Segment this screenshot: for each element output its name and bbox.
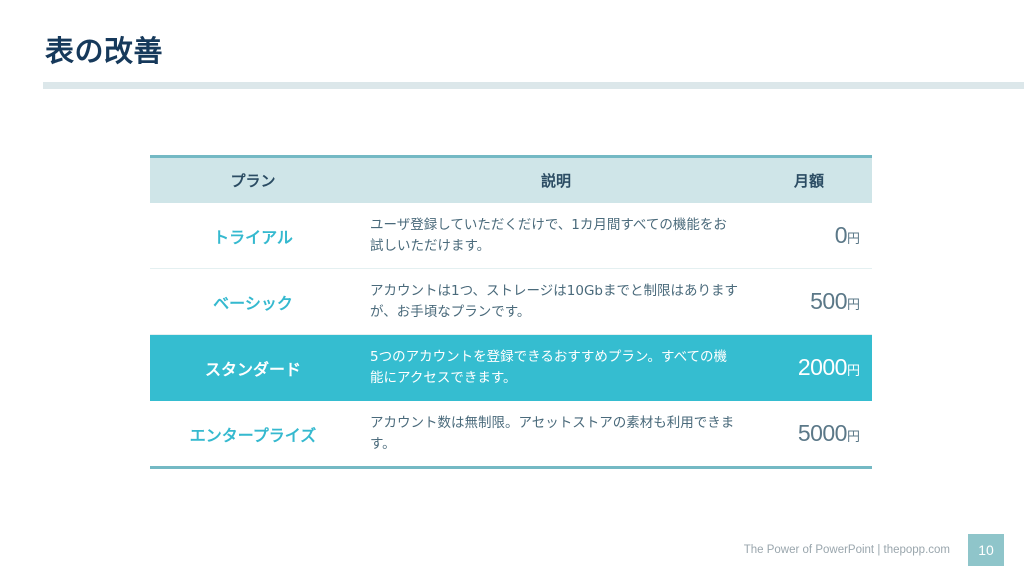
cell-price: 0円 — [756, 203, 872, 269]
table-header-row: プラン 説明 月額 — [150, 157, 872, 204]
price-unit: 円 — [847, 297, 860, 312]
price-unit: 円 — [847, 363, 860, 378]
price-amount: 5000 — [798, 420, 847, 446]
price-amount: 0 — [835, 222, 847, 248]
page-title: 表の改善 — [45, 28, 163, 70]
price-amount: 2000 — [798, 354, 847, 380]
price-amount: 500 — [810, 288, 847, 314]
cell-plan: ベーシック — [150, 269, 356, 335]
cell-description: アカウントは1つ、ストレージは10Gbまでと制限はありますが、お手頃なプランです… — [356, 269, 756, 335]
price-unit: 円 — [847, 429, 860, 444]
cell-plan: トライアル — [150, 203, 356, 269]
footer-credit: The Power of PowerPoint | thepopp.com — [744, 544, 950, 556]
cell-price: 5000円 — [756, 401, 872, 468]
page-number-badge: 10 — [968, 534, 1004, 566]
table-body: トライアル ユーザ登録していただくだけで、1カ月間すべての機能をお試しいただけま… — [150, 203, 872, 468]
cell-plan: スタンダード — [150, 335, 356, 401]
cell-price: 500円 — [756, 269, 872, 335]
column-header-description: 説明 — [356, 157, 756, 204]
table-row[interactable]: ベーシック アカウントは1つ、ストレージは10Gbまでと制限はありますが、お手頃… — [150, 269, 872, 335]
pricing-table: プラン 説明 月額 トライアル ユーザ登録していただくだけで、1カ月間すべての機… — [150, 155, 872, 469]
cell-plan: エンタープライズ — [150, 401, 356, 468]
price-unit: 円 — [847, 231, 860, 246]
table-row[interactable]: トライアル ユーザ登録していただくだけで、1カ月間すべての機能をお試しいただけま… — [150, 203, 872, 269]
column-header-price: 月額 — [756, 157, 872, 204]
cell-description: 5つのアカウントを登録できるおすすめプラン。すべての機能にアクセスできます。 — [356, 335, 756, 401]
cell-price: 2000円 — [756, 335, 872, 401]
table-row-highlighted[interactable]: スタンダード 5つのアカウントを登録できるおすすめプラン。すべての機能にアクセス… — [150, 335, 872, 401]
column-header-plan: プラン — [150, 157, 356, 204]
table-row[interactable]: エンタープライズ アカウント数は無制限。アセットストアの素材も利用できます。 5… — [150, 401, 872, 468]
cell-description: アカウント数は無制限。アセットストアの素材も利用できます。 — [356, 401, 756, 468]
title-divider — [43, 82, 1024, 89]
cell-description: ユーザ登録していただくだけで、1カ月間すべての機能をお試しいただけます。 — [356, 203, 756, 269]
